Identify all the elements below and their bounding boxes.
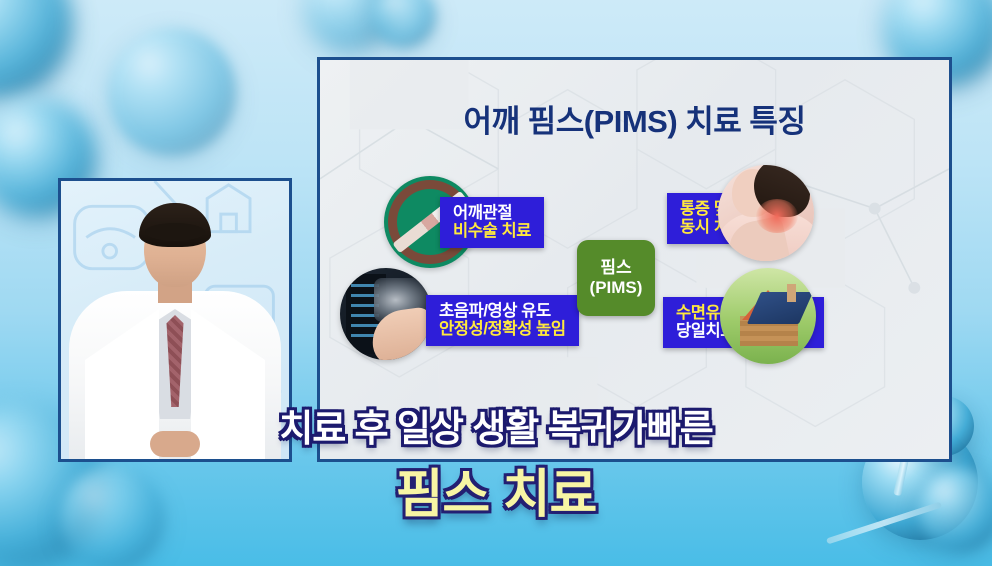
feature-label-ultrasound-guided[interactable]: 초음파/영상 유도 안정성/정확성 높임: [426, 295, 579, 346]
badge-line-1: 핌스: [600, 258, 631, 278]
house-chimney: [787, 284, 796, 302]
house-photo: [720, 268, 816, 364]
page-title: 어깨 핌스(PIMS) 치료 특징: [320, 96, 949, 141]
badge-line-2: (PIMS): [590, 278, 643, 298]
shoulder-pain-photo: [718, 165, 814, 261]
feature-line-1: 초음파/영상 유도: [439, 302, 566, 320]
center-badge-pims[interactable]: 핌스 (PIMS): [577, 240, 655, 316]
house-solar-roof: [747, 292, 813, 324]
feature-label-non-surgical[interactable]: 어깨관절 비수술 치료: [440, 197, 544, 248]
broadcast-slide: 어깨 핌스(PIMS) 치료 특징 어깨관절 비수술 치료 통증 및 경직을 동…: [0, 0, 992, 566]
background-sphere: [108, 28, 236, 156]
ultrasound-photo: [340, 268, 432, 360]
feature-line-2: 비수술 치료: [453, 222, 531, 240]
feature-line-1: 어깨관절: [453, 204, 531, 222]
doctor-hair: [139, 203, 211, 247]
caption-line-1: 치료 후 일상 생활 복귀가빠른: [0, 398, 992, 452]
caption-line-2: 핌스 치료: [0, 452, 992, 527]
feature-line-2: 안정성/정확성 높임: [439, 320, 566, 338]
pain-highlight: [756, 199, 798, 233]
